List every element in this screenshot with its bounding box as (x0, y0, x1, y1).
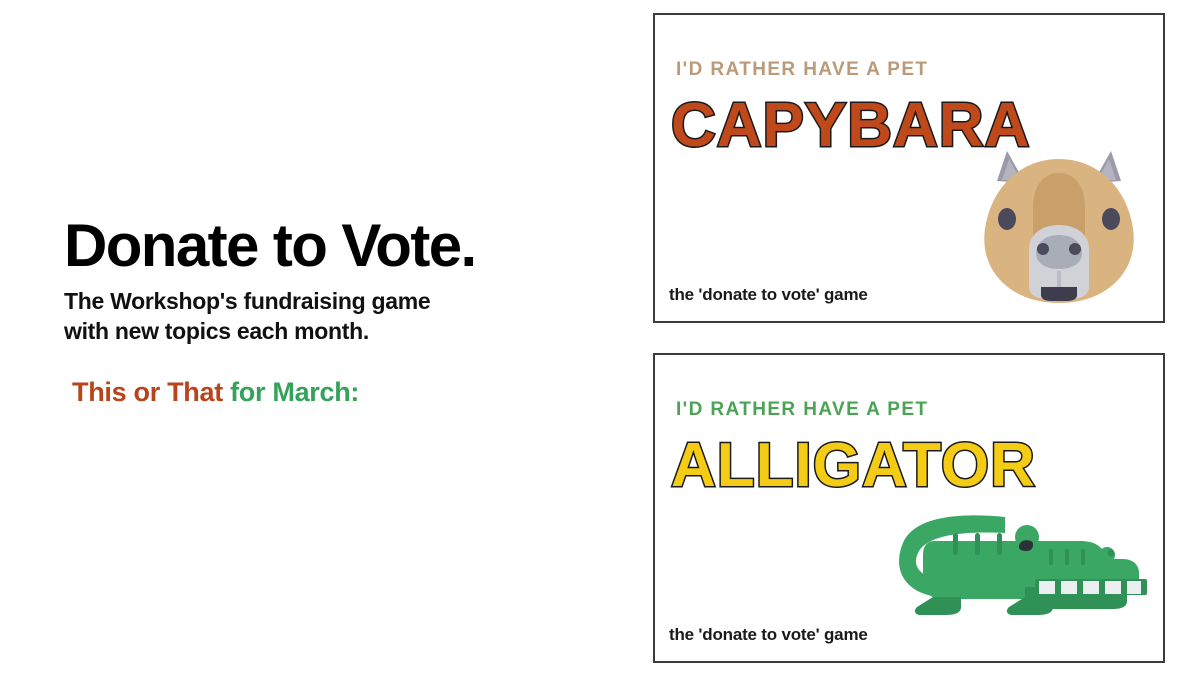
subtitle-line-2: with new topics each month. (64, 318, 369, 344)
tagline: This or That for March: (72, 377, 624, 408)
card-footer: the 'donate to vote' game (669, 625, 868, 645)
card-kicker: I'D RATHER HAVE A PET (676, 59, 928, 81)
subtitle-line-1: The Workshop's fundraising game (64, 288, 430, 314)
page-title: Donate to Vote. (64, 216, 624, 276)
vote-card-alligator[interactable]: I'D RATHER HAVE A PET ALLIGATOR (653, 353, 1165, 663)
intro-panel: Donate to Vote. The Workshop's fundraisi… (64, 216, 624, 408)
tagline-for-month: for March: (223, 377, 359, 407)
vote-card-capybara[interactable]: I'D RATHER HAVE A PET CAPYBARA (653, 13, 1165, 323)
card-kicker: I'D RATHER HAVE A PET (676, 399, 928, 421)
card-headline: ALLIGATOR (671, 435, 1036, 497)
capybara-icon (969, 143, 1149, 311)
tagline-this-or-that: This or That (72, 377, 223, 407)
card-footer: the 'donate to vote' game (669, 285, 868, 305)
alligator-icon (885, 503, 1155, 619)
page-subtitle: The Workshop's fundraising game with new… (64, 286, 624, 347)
